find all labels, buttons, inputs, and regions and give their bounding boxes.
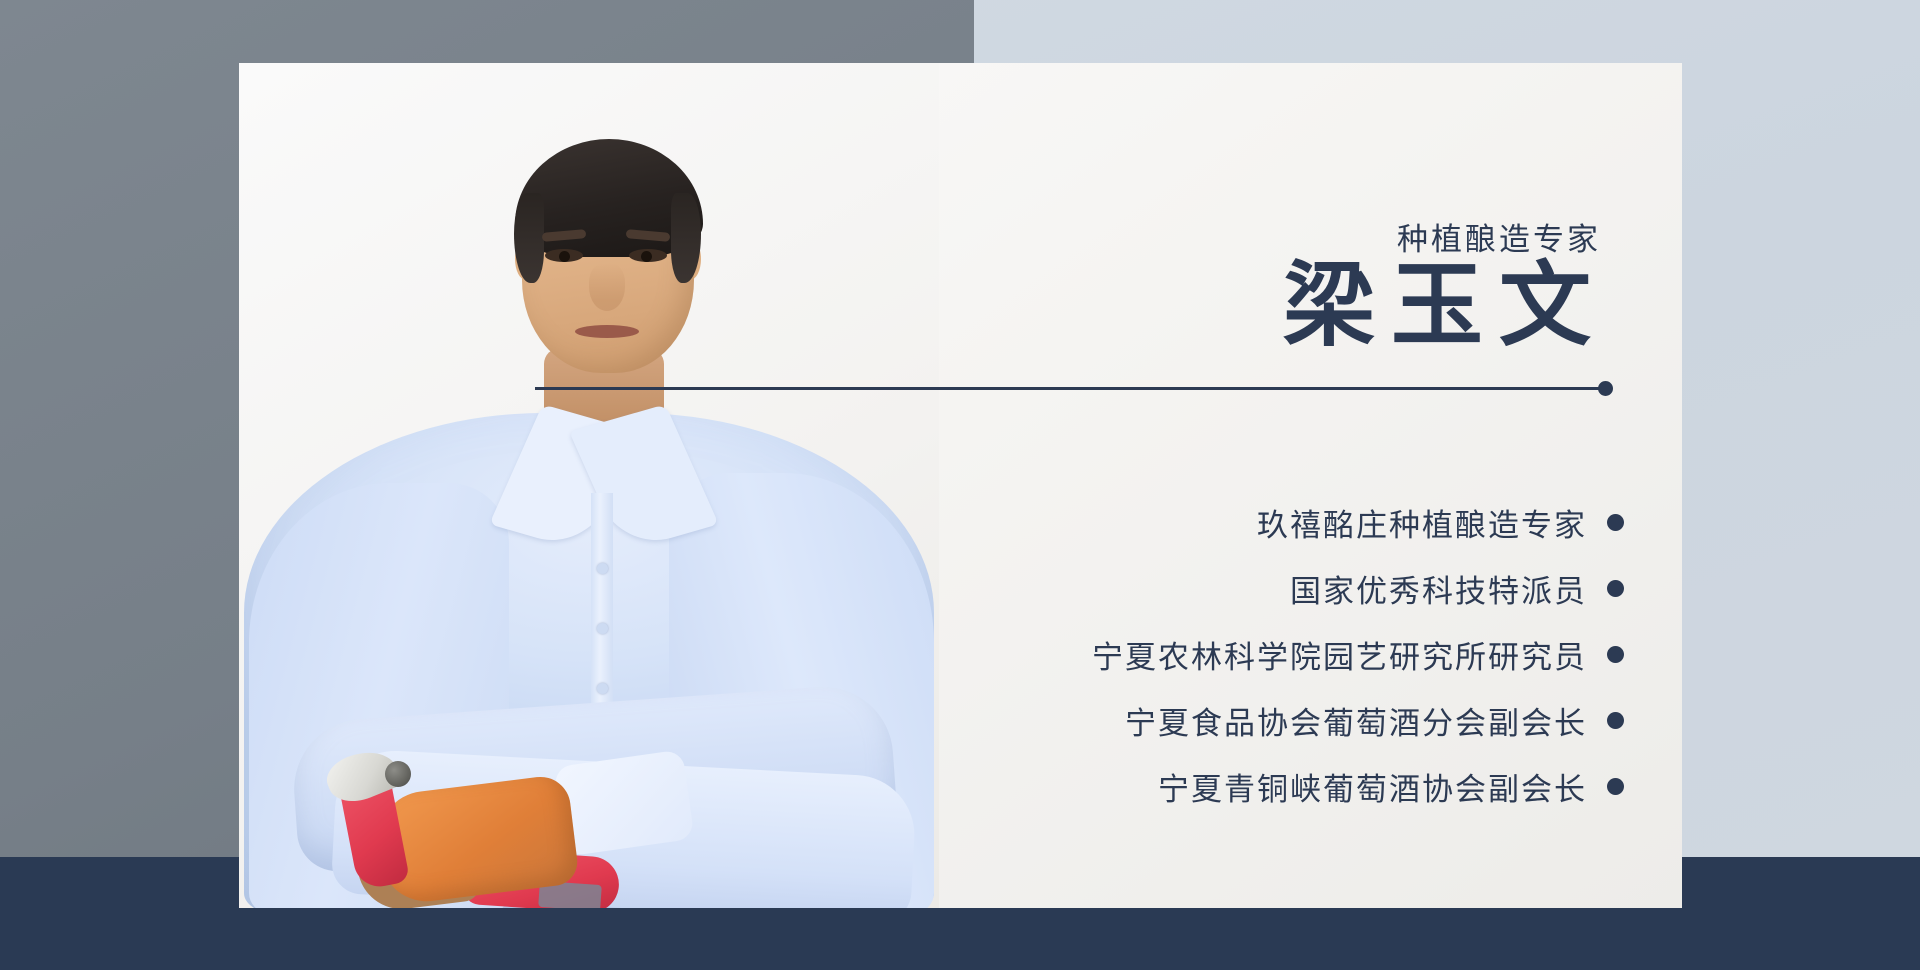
bullet-dot-icon — [1607, 514, 1624, 531]
credential-text: 宁夏农林科学院园艺研究所研究员 — [1092, 632, 1587, 677]
list-item: 宁夏食品协会葡萄酒分会副会长 — [239, 693, 1682, 747]
credential-text: 国家优秀科技特派员 — [1290, 566, 1587, 611]
profile-card: 种植酿造专家 梁玉文 玖禧酩庄种植酿造专家 国家优秀科技特派员 宁夏农林科学院园… — [239, 63, 1682, 908]
divider-end-dot — [1598, 381, 1613, 396]
profile-banner: 种植酿造专家 梁玉文 玖禧酩庄种植酿造专家 国家优秀科技特派员 宁夏农林科学院园… — [0, 0, 1920, 970]
credential-text: 玖禧酩庄种植酿造专家 — [1257, 500, 1587, 545]
divider-line — [535, 387, 1601, 390]
divider — [535, 381, 1613, 397]
credential-text: 宁夏食品协会葡萄酒分会副会长 — [1125, 698, 1587, 743]
bullet-dot-icon — [1607, 778, 1624, 795]
bullet-dot-icon — [1607, 712, 1624, 729]
list-item: 宁夏青铜峡葡萄酒协会副会长 — [239, 759, 1682, 813]
credentials-list: 玖禧酩庄种植酿造专家 国家优秀科技特派员 宁夏农林科学院园艺研究所研究员 宁夏食… — [239, 495, 1682, 825]
list-item: 玖禧酩庄种植酿造专家 — [239, 495, 1682, 549]
bullet-dot-icon — [1607, 646, 1624, 663]
list-item: 宁夏农林科学院园艺研究所研究员 — [239, 627, 1682, 681]
credential-text: 宁夏青铜峡葡萄酒协会副会长 — [1158, 764, 1587, 809]
bullet-dot-icon — [1607, 580, 1624, 597]
expert-subtitle: 种植酿造专家 — [239, 214, 1601, 259]
list-item: 国家优秀科技特派员 — [239, 561, 1682, 615]
person-name: 梁玉文 — [239, 255, 1607, 358]
